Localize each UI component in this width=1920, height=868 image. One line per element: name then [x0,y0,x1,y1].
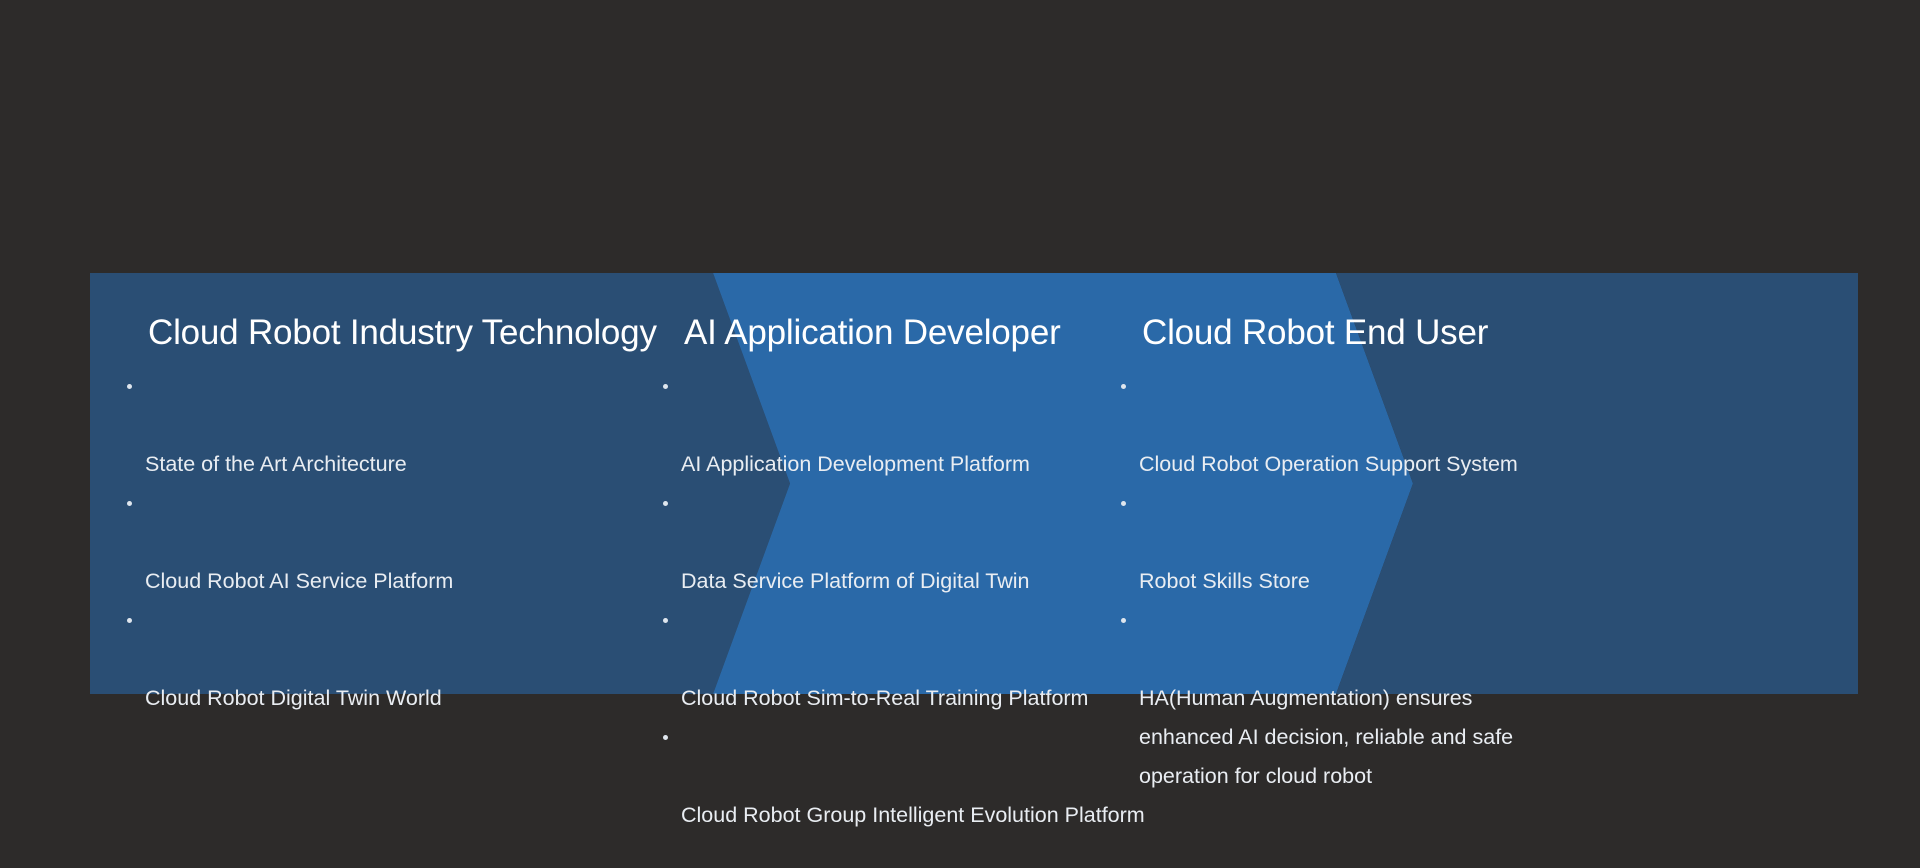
list-item-label: Cloud Robot Group Intelligent Evolution … [681,803,1145,827]
bullet-dot-icon [663,618,668,623]
list-item-label: Cloud Robot Digital Twin World [145,686,442,710]
list-item: AI Application Development Platform [662,367,1145,484]
list-item-label: HA(Human Augmentation) ensures enhanced … [1139,686,1513,788]
bullet-list-ai-application-developer: AI Application Development Platform Data… [662,367,1145,835]
panel-title-cloud-robot-end-user: Cloud Robot End User [1142,315,1488,350]
bullet-dot-icon [127,618,132,623]
bullet-list-cloud-robot-end-user: Cloud Robot Operation Support System Rob… [1120,367,1539,796]
list-item: Cloud Robot AI Service Platform [126,484,453,601]
list-item-label: Data Service Platform of Digital Twin [681,569,1030,593]
list-item-label: Robot Skills Store [1139,569,1310,593]
bullet-dot-icon [127,384,132,389]
bullet-dot-icon [1121,618,1126,623]
list-item-label: State of the Art Architecture [145,452,407,476]
list-item-label: AI Application Development Platform [681,452,1030,476]
list-item: Robot Skills Store [1120,484,1539,601]
list-item-label: Cloud Robot AI Service Platform [145,569,453,593]
list-item-label: Cloud Robot Operation Support System [1139,452,1518,476]
list-item-label: Cloud Robot Sim-to-Real Training Platfor… [681,686,1088,710]
bullet-dot-icon [127,501,132,506]
list-item: Data Service Platform of Digital Twin [662,484,1145,601]
list-item: HA(Human Augmentation) ensures enhanced … [1120,601,1539,796]
bullet-dot-icon [663,384,668,389]
list-item: Cloud Robot Digital Twin World [126,601,453,718]
bullet-dot-icon [663,501,668,506]
panel-title-ai-application-developer: AI Application Developer [684,315,1061,350]
bullet-list-cloud-robot-industry-technology: State of the Art Architecture Cloud Robo… [126,367,453,718]
list-item: Cloud Robot Sim-to-Real Training Platfor… [662,601,1145,718]
list-item: Cloud Robot Group Intelligent Evolution … [662,718,1145,835]
bullet-dot-icon [1121,384,1126,389]
list-item: Cloud Robot Operation Support System [1120,367,1539,484]
slide-canvas: Cloud Robot Industry Technology State of… [0,0,1920,868]
bullet-dot-icon [663,735,668,740]
chevron-process-diagram: Cloud Robot Industry Technology State of… [90,273,1858,694]
panel-title-cloud-robot-industry-technology: Cloud Robot Industry Technology [148,315,657,350]
bullet-dot-icon [1121,501,1126,506]
list-item: State of the Art Architecture [126,367,453,484]
